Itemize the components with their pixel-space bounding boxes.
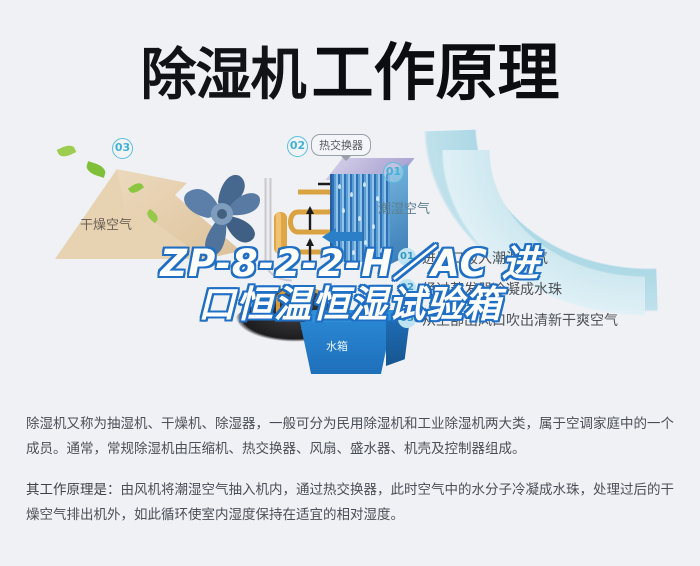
legend-text: 经过蒸发器冷凝成水珠 <box>422 279 562 299</box>
legend-number: 03 <box>398 310 416 328</box>
water-tank-label: 水箱 <box>326 338 348 354</box>
paragraph-1: 除湿机又称为抽湿机、干燥机、除湿器，一般可分为民用除湿机和工业除湿机两大类，属于… <box>26 412 676 462</box>
legend-item: 01 进风口吸入潮湿空气 <box>398 248 698 268</box>
page-title-part-1: 除湿机 <box>140 43 305 108</box>
page-root: 除湿机工作原理 <box>0 0 700 566</box>
page-title: 除湿机工作原理 <box>0 22 700 112</box>
dehumidifier-diagram: 水箱 03 02 01 热交换器 干燥空气 潮湿空气 01 进风口吸入潮湿空气 … <box>0 120 700 405</box>
diagram-badge-03: 03 <box>112 138 133 159</box>
heat-exchanger-callout: 热交换器 <box>311 134 371 156</box>
legend-text: 从上部出风口吹出清新干爽空气 <box>422 310 618 330</box>
legend-number: 01 <box>398 248 416 266</box>
paragraph-2-lead: 其工作原理是： <box>26 482 121 498</box>
water-tank: 水箱 <box>300 310 412 382</box>
dry-air-label: 干燥空气 <box>80 214 132 233</box>
process-legend: 01 进风口吸入潮湿空气 02 经过蒸发器冷凝成水珠 03 从上部出风口吹出清新… <box>398 248 698 341</box>
legend-item: 02 经过蒸发器冷凝成水珠 <box>398 279 698 299</box>
diagram-badge-02: 02 <box>287 136 308 157</box>
body-copy: 除湿机又称为抽湿机、干燥机、除湿器，一般可分为民用除湿机和工业除湿机两大类，属于… <box>26 412 676 544</box>
diagram-badge-01: 01 <box>383 162 404 183</box>
humid-air-label: 潮湿空气 <box>378 198 430 217</box>
legend-number: 02 <box>398 279 416 297</box>
condensation-drops <box>332 178 392 260</box>
paragraph-2: 其工作原理是：由风机将潮湿空气抽入机内，通过热交换器，此时空气中的水分子冷凝成水… <box>26 478 676 528</box>
legend-text: 进风口吸入潮湿空气 <box>422 248 548 268</box>
page-title-part-2: 工作原理 <box>311 36 559 109</box>
paragraph-2-text: 由风机将潮湿空气抽入机内，通过热交换器，此时空气中的水分子冷凝成水珠，处理过后的… <box>26 482 674 523</box>
legend-item: 03 从上部出风口吹出清新干爽空气 <box>398 310 698 330</box>
air-inlet-arrow-icon <box>322 228 362 246</box>
